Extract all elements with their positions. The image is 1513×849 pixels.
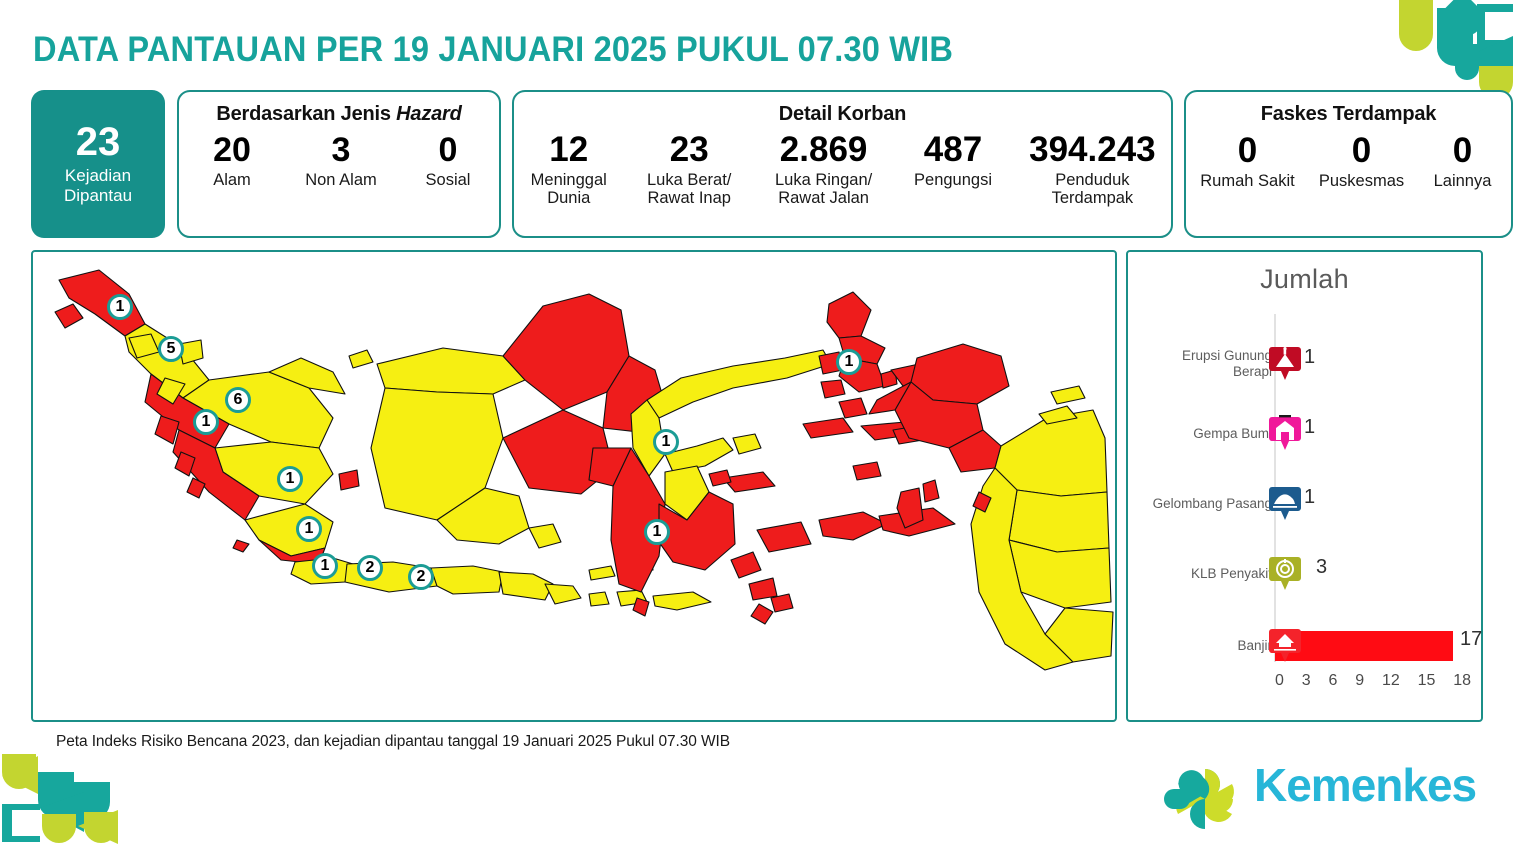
metric-meninggal-dunia: 12 Meninggal Dunia — [514, 132, 624, 208]
map-marker-sulawesi-selatan[interactable]: 1 — [644, 519, 670, 545]
map-marker-jawa-barat[interactable]: 2 — [357, 555, 383, 581]
chart-cat-klb: KLB Penyakit — [1152, 566, 1272, 582]
metric-lainnya: 0 Lainnya — [1417, 133, 1509, 190]
metric-sosial: 0 Sosial — [398, 133, 498, 189]
chart-value-klb: 3 — [1316, 556, 1327, 579]
page-title: DATA PANTAUAN PER 19 JANUARI 2025 PUKUL … — [33, 30, 953, 70]
dashboard-root: DATA PANTAUAN PER 19 JANUARI 2025 PUKUL … — [0, 0, 1513, 844]
chart-row-gempa: Gempa Bumi 1 — [1128, 406, 1481, 462]
map-marker-sumsel[interactable]: 1 — [277, 466, 303, 492]
indonesia-map — [33, 252, 1115, 720]
chart-row-erupsi: Erupsi Gunung Berapi 1 — [1128, 336, 1481, 392]
chart-x-axis-ticks: 0 3 6 9 12 15 18 — [1275, 672, 1471, 690]
map-marker-maluku-utara[interactable]: 1 — [836, 349, 862, 375]
chart-value-erupsi: 1 — [1304, 346, 1315, 369]
flood-pin-icon — [1268, 627, 1302, 665]
hazard-metrics: 20 Alam 3 Non Alam 0 Sosial — [179, 133, 499, 189]
kemenkes-wordmark: Kemenkes — [1254, 758, 1476, 812]
kejadian-dipantau-badge: 23 Kejadian Dipantau — [31, 90, 165, 238]
korban-card-title: Detail Korban — [514, 103, 1171, 126]
chart-row-gelombang: Gelombang Pasang 1 — [1128, 476, 1481, 532]
chart-value-banjir: 17 — [1460, 628, 1482, 651]
chart-value-gelombang: 1 — [1304, 486, 1315, 509]
chart-row-klb: KLB Penyakit 3 — [1128, 546, 1481, 602]
metric-luka-berat-l1: Luka Berat/ — [647, 171, 731, 189]
map-marker-aceh[interactable]: 1 — [107, 294, 133, 320]
indonesia-risk-map-panel[interactable]: 1 5 6 1 1 1 1 2 2 1 1 1 — [31, 250, 1117, 722]
metric-lainnya-value: 0 — [1419, 133, 1507, 169]
metric-meninggal-l1: Meninggal — [531, 171, 607, 189]
volcano-pin-icon — [1268, 345, 1302, 383]
kejadian-label-line2: Dipantau — [64, 186, 132, 205]
metric-penduduk-l2: Terdampak — [1052, 189, 1134, 207]
chart-title: Jumlah — [1128, 264, 1481, 295]
metric-luka-ringan-l1: Luka Ringan/ — [775, 171, 872, 189]
earthquake-pin-icon — [1268, 415, 1302, 453]
hazard-card-title: Berdasarkan Jenis Hazard — [179, 103, 499, 126]
xtick-15: 15 — [1418, 672, 1436, 690]
chart-row-banjir: Banjir 17 — [1128, 618, 1481, 674]
metric-luka-berat-label: Luka Berat/ Rawat Inap — [626, 171, 753, 208]
xtick-9: 9 — [1355, 672, 1364, 690]
chart-value-gempa: 1 — [1304, 416, 1315, 439]
decor-shapes-top-right — [1389, 0, 1513, 104]
hazard-title-plain: Berdasarkan Jenis — [216, 103, 396, 125]
map-marker-sulawesi-tengah[interactable]: 1 — [653, 429, 679, 455]
tidal-wave-pin-icon — [1268, 485, 1302, 523]
xtick-0: 0 — [1275, 672, 1284, 690]
chart-cat-gelombang: Gelombang Pasang — [1152, 496, 1272, 512]
corner-decoration-top-right — [1389, 0, 1513, 104]
metric-non-alam-value: 3 — [286, 133, 396, 168]
metric-puskesmas: 0 Puskesmas — [1307, 133, 1417, 190]
xtick-6: 6 — [1328, 672, 1337, 690]
metric-non-alam: 3 Non Alam — [284, 133, 398, 189]
hazard-card: Berdasarkan Jenis Hazard 20 Alam 3 Non A… — [177, 90, 501, 238]
metric-sosial-value: 0 — [400, 133, 496, 168]
xtick-18: 18 — [1453, 672, 1471, 690]
metric-rumah-sakit: 0 Rumah Sakit — [1189, 133, 1307, 190]
metric-luka-ringan: 2.869 Luka Ringan/ Rawat Jalan — [755, 132, 892, 208]
korban-metrics: 12 Meninggal Dunia 23 Luka Berat/ Rawat … — [514, 132, 1171, 208]
metric-luka-ringan-l2: Rawat Jalan — [778, 189, 869, 207]
stats-row: 23 Kejadian Dipantau Berdasarkan Jenis H… — [31, 90, 1483, 242]
metric-luka-berat-value: 23 — [626, 132, 753, 168]
metric-pengungsi: 487 Pengungsi — [892, 132, 1013, 189]
metric-non-alam-label: Non Alam — [286, 171, 396, 190]
metric-luka-ringan-label: Luka Ringan/ Rawat Jalan — [757, 171, 890, 208]
kejadian-label: Kejadian Dipantau — [64, 166, 132, 205]
metric-alam-value: 20 — [182, 133, 282, 168]
metric-rumah-sakit-value: 0 — [1191, 133, 1305, 169]
disease-pin-icon — [1268, 555, 1302, 593]
map-marker-jawa-tengah[interactable]: 2 — [408, 564, 434, 590]
metric-luka-berat: 23 Luka Berat/ Rawat Inap — [624, 132, 755, 208]
map-marker-banten[interactable]: 1 — [312, 553, 338, 579]
hazard-count-chart-panel: Jumlah Erupsi Gunung Berapi 1 Gemp — [1126, 250, 1483, 722]
map-caption: Peta Indeks Risiko Bencana 2023, dan kej… — [56, 733, 730, 751]
hazard-title-italic: Hazard — [396, 103, 462, 125]
metric-lainnya-label: Lainnya — [1419, 172, 1507, 191]
metric-penduduk-l1: Penduduk — [1055, 171, 1129, 189]
metric-penduduk-terdampak: 394.243 Penduduk Terdampak — [1014, 132, 1171, 208]
metric-alam: 20 Alam — [180, 133, 284, 189]
map-marker-sumbar[interactable]: 1 — [193, 409, 219, 435]
metric-pengungsi-value: 487 — [894, 132, 1011, 168]
metric-sosial-label: Sosial — [400, 171, 496, 190]
metric-luka-berat-l2: Rawat Inap — [647, 189, 730, 207]
faskes-card: Faskes Terdampak 0 Rumah Sakit 0 Puskesm… — [1184, 90, 1513, 238]
map-marker-lampung[interactable]: 1 — [296, 516, 322, 542]
chart-cat-banjir: Banjir — [1152, 638, 1272, 654]
chart-cat-erupsi: Erupsi Gunung Berapi — [1152, 348, 1272, 380]
metric-penduduk-label: Penduduk Terdampak — [1016, 171, 1169, 208]
xtick-3: 3 — [1302, 672, 1311, 690]
metric-meninggal-value: 12 — [516, 132, 622, 168]
map-marker-riau[interactable]: 6 — [225, 387, 251, 413]
chart-plot-area: Erupsi Gunung Berapi 1 Gempa Bumi — [1128, 308, 1481, 668]
metric-rumah-sakit-label: Rumah Sakit — [1191, 172, 1305, 191]
metric-alam-label: Alam — [182, 171, 282, 190]
metric-meninggal-l2: Dunia — [547, 189, 590, 207]
kemenkes-mark-icon — [1162, 762, 1248, 836]
kejadian-count: 23 — [76, 122, 121, 162]
map-marker-sumut[interactable]: 5 — [158, 336, 184, 362]
kemenkes-logo: Kemenkes — [1162, 762, 1482, 832]
metric-puskesmas-value: 0 — [1309, 133, 1415, 169]
faskes-metrics: 0 Rumah Sakit 0 Puskesmas 0 Lainnya — [1186, 133, 1511, 190]
chart-cat-gempa: Gempa Bumi — [1152, 426, 1272, 442]
metric-pengungsi-label: Pengungsi — [894, 171, 1011, 190]
metric-pengungsi-l1: Pengungsi — [914, 171, 992, 189]
kejadian-label-line1: Kejadian — [65, 166, 131, 185]
corner-decoration-bottom-left — [0, 752, 132, 844]
faskes-card-title: Faskes Terdampak — [1186, 103, 1511, 126]
korban-card: Detail Korban 12 Meninggal Dunia 23 Luka… — [512, 90, 1173, 238]
metric-puskesmas-label: Puskesmas — [1309, 172, 1415, 191]
metric-luka-ringan-value: 2.869 — [757, 132, 890, 168]
decor-shapes-bottom-left — [0, 752, 132, 844]
xtick-12: 12 — [1382, 672, 1400, 690]
metric-meninggal-label: Meninggal Dunia — [516, 171, 622, 208]
metric-penduduk-value: 394.243 — [1016, 132, 1169, 168]
